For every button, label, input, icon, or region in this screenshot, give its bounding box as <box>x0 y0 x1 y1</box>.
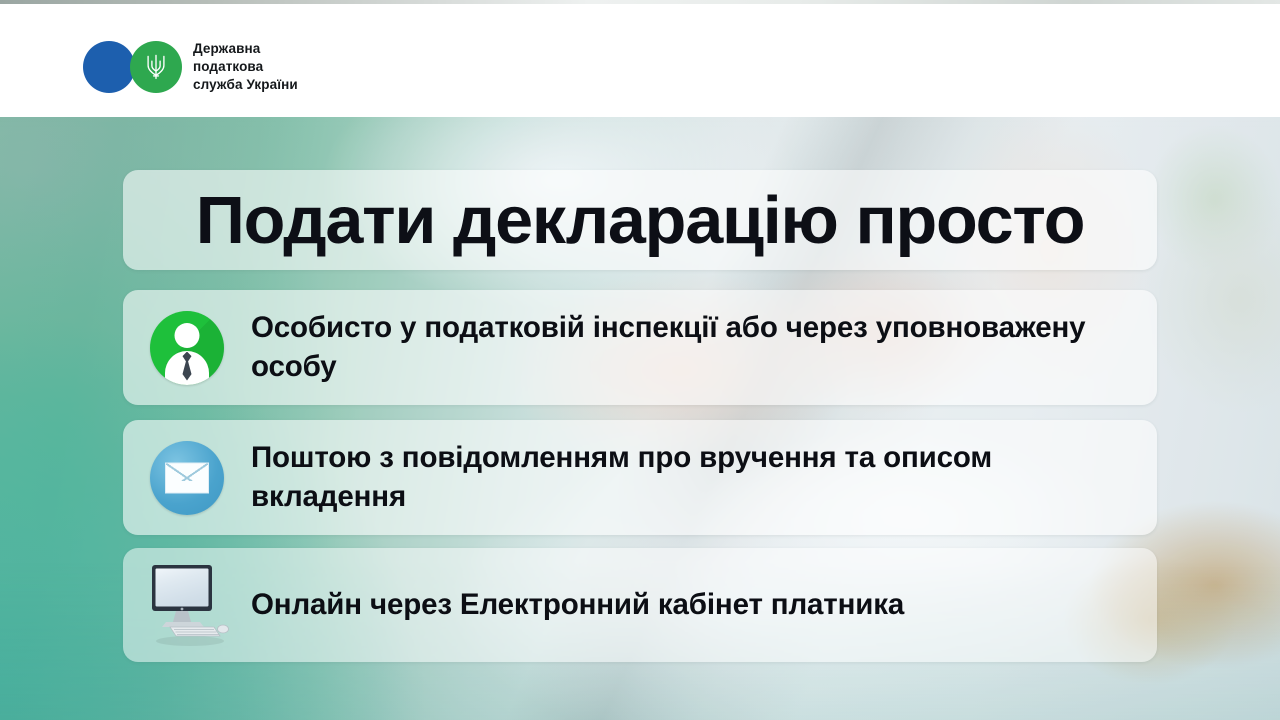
option-label-in-person: Особисто у податковій інспекції або чере… <box>251 309 1157 386</box>
option-label-postal: Поштою з повідомленням про вручення та о… <box>251 439 1157 516</box>
slide-root: Державна податкова служба України Подати… <box>0 0 1280 720</box>
top-edge-strip <box>0 0 1280 4</box>
page-title: Подати декларацію просто <box>113 187 1168 254</box>
logo-marks <box>83 41 182 93</box>
header-bar: Державна податкова служба України <box>0 4 1280 117</box>
option-icon-slot <box>123 311 251 385</box>
ukraine-trident-icon <box>145 53 167 81</box>
option-label-online: Онлайн через Електронний кабінет платник… <box>251 586 944 624</box>
option-card-online[interactable]: Онлайн через Електронний кабінет платник… <box>123 548 1157 662</box>
envelope-icon <box>150 441 224 515</box>
green-circle-tryzub-mark <box>130 41 182 93</box>
envelope-shape <box>165 462 209 493</box>
option-card-in-person[interactable]: Особисто у податковій інспекції або чере… <box>123 290 1157 405</box>
blue-circle-mark <box>83 41 135 93</box>
organization-logo: Державна податкова служба України <box>83 40 298 94</box>
option-icon-slot <box>123 441 251 515</box>
option-icon-slot <box>123 561 251 649</box>
person-tie-icon <box>150 311 224 385</box>
organization-name: Державна податкова служба України <box>193 40 298 94</box>
person-head-shape <box>175 323 200 348</box>
desktop-computer-icon <box>144 561 230 649</box>
option-card-postal[interactable]: Поштою з повідомленням про вручення та о… <box>123 420 1157 535</box>
title-card: Подати декларацію просто <box>123 170 1157 270</box>
